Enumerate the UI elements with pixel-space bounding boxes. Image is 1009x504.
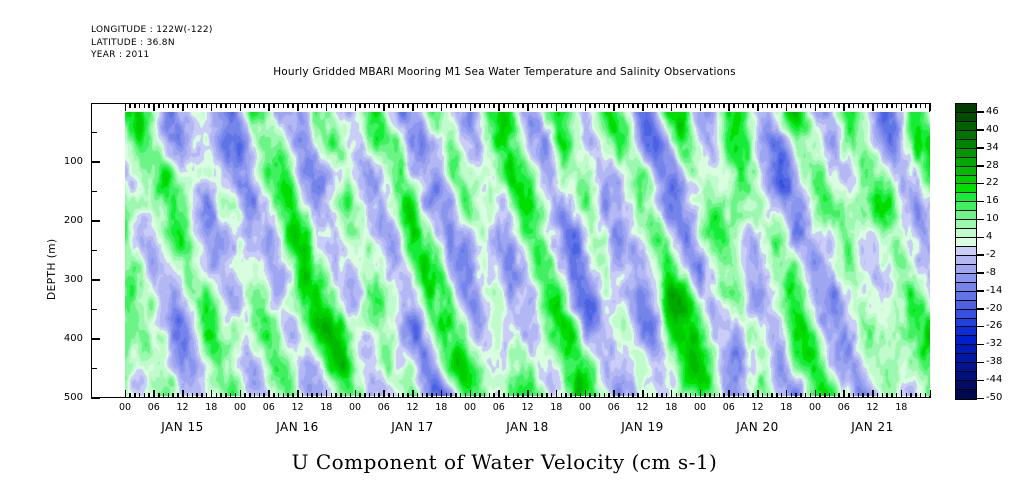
x-tick-bottom bbox=[695, 393, 697, 398]
x-tick-bottom bbox=[206, 393, 208, 398]
x-tick-top bbox=[450, 103, 452, 108]
x-tick-bottom bbox=[158, 393, 160, 398]
y-tick bbox=[91, 191, 97, 193]
x-tick-bottom bbox=[537, 393, 539, 398]
x-tick-top bbox=[719, 103, 721, 108]
colorbar-tick-label: -2 bbox=[986, 249, 996, 260]
x-tick-bottom bbox=[541, 393, 543, 398]
x-tick-top bbox=[757, 103, 759, 111]
x-tick-bottom bbox=[402, 393, 404, 398]
x-tick-bottom bbox=[930, 390, 932, 398]
x-tick-bottom bbox=[139, 393, 141, 398]
x-hour-label: 00 bbox=[458, 402, 482, 413]
colorbar-band bbox=[956, 310, 976, 319]
x-tick-bottom bbox=[436, 393, 438, 398]
x-tick-bottom bbox=[172, 393, 174, 398]
x-tick-bottom bbox=[834, 393, 836, 398]
x-tick-top bbox=[781, 103, 783, 108]
colorbar-band bbox=[956, 327, 976, 336]
colorbar-tick-label: 4 bbox=[986, 231, 992, 242]
x-hour-label: 12 bbox=[746, 402, 770, 413]
x-tick-bottom bbox=[493, 393, 495, 398]
colorbar-tick-label: -50 bbox=[986, 392, 1002, 403]
x-tick-bottom bbox=[690, 393, 692, 398]
velocity-heatmap bbox=[125, 112, 930, 396]
x-tick-bottom bbox=[733, 393, 735, 398]
x-tick-top bbox=[340, 103, 342, 108]
x-tick-bottom bbox=[240, 390, 242, 398]
x-tick-top bbox=[407, 103, 409, 108]
x-tick-bottom bbox=[369, 393, 371, 398]
x-tick-top bbox=[685, 103, 687, 108]
x-tick-bottom bbox=[872, 390, 874, 398]
x-tick-top bbox=[517, 103, 519, 108]
x-tick-top bbox=[493, 103, 495, 108]
metadata-block: LONGITUDE : 122W(-122) LATITUDE : 36.8N … bbox=[91, 24, 213, 62]
x-tick-bottom bbox=[910, 393, 912, 398]
x-hour-label: 06 bbox=[832, 402, 856, 413]
x-tick-top bbox=[728, 103, 730, 111]
x-tick-top bbox=[570, 103, 572, 108]
x-tick-top bbox=[546, 103, 548, 108]
x-tick-top bbox=[259, 103, 261, 108]
x-tick-bottom bbox=[359, 393, 361, 398]
x-tick-top bbox=[388, 103, 390, 108]
x-tick-top bbox=[604, 103, 606, 108]
x-tick-top bbox=[738, 103, 740, 108]
x-tick-bottom bbox=[503, 393, 505, 398]
x-tick-bottom bbox=[882, 393, 884, 398]
x-tick-bottom bbox=[498, 390, 500, 398]
x-tick-top bbox=[470, 103, 472, 111]
colorbar-tick-label: 28 bbox=[986, 160, 999, 171]
x-tick-bottom bbox=[287, 393, 289, 398]
x-tick-top bbox=[196, 103, 198, 108]
x-tick-bottom bbox=[168, 393, 170, 398]
x-hour-label: 12 bbox=[401, 402, 425, 413]
x-tick-bottom bbox=[211, 390, 213, 398]
x-tick-bottom bbox=[680, 393, 682, 398]
x-tick-bottom bbox=[321, 393, 323, 398]
x-tick-top bbox=[134, 103, 136, 108]
x-tick-top bbox=[541, 103, 543, 108]
x-tick-bottom bbox=[762, 393, 764, 398]
x-tick-bottom bbox=[182, 390, 184, 398]
colorbar-band bbox=[956, 131, 976, 140]
colorbar-band bbox=[956, 256, 976, 265]
x-tick-top bbox=[417, 103, 419, 108]
colorbar-tick-label: -14 bbox=[986, 285, 1002, 296]
x-tick-bottom bbox=[723, 393, 725, 398]
x-tick-bottom bbox=[460, 393, 462, 398]
x-tick-top bbox=[369, 103, 371, 108]
x-tick-bottom bbox=[364, 393, 366, 398]
y-tick bbox=[91, 161, 100, 163]
x-tick-bottom bbox=[575, 393, 577, 398]
x-tick-top bbox=[249, 103, 251, 108]
x-tick-top bbox=[168, 103, 170, 108]
x-tick-top bbox=[316, 103, 318, 108]
x-tick-bottom bbox=[613, 390, 615, 398]
x-tick-top bbox=[254, 103, 256, 108]
x-tick-top bbox=[359, 103, 361, 108]
x-tick-bottom bbox=[580, 393, 582, 398]
x-tick-top bbox=[882, 103, 884, 108]
x-tick-bottom bbox=[177, 393, 179, 398]
x-tick-bottom bbox=[632, 393, 634, 398]
x-tick-top bbox=[192, 103, 194, 108]
x-tick-top bbox=[513, 103, 515, 108]
x-tick-bottom bbox=[599, 393, 601, 398]
x-tick-bottom bbox=[771, 393, 773, 398]
x-tick-top bbox=[551, 103, 553, 108]
x-tick-bottom bbox=[628, 393, 630, 398]
x-tick-top bbox=[632, 103, 634, 108]
x-tick-top bbox=[752, 103, 754, 108]
x-tick-bottom bbox=[623, 393, 625, 398]
x-tick-top bbox=[355, 103, 357, 111]
latitude-label: LATITUDE : 36.8N bbox=[91, 37, 213, 50]
x-tick-bottom bbox=[316, 393, 318, 398]
colorbar-tick-label: -8 bbox=[986, 267, 996, 278]
x-tick-bottom bbox=[901, 390, 903, 398]
x-tick-bottom bbox=[383, 390, 385, 398]
x-tick-top bbox=[139, 103, 141, 108]
x-tick-bottom bbox=[446, 393, 448, 398]
x-tick-bottom bbox=[546, 393, 548, 398]
x-tick-top bbox=[695, 103, 697, 108]
y-tick bbox=[91, 132, 97, 134]
x-tick-bottom bbox=[244, 393, 246, 398]
x-tick-top bbox=[776, 103, 778, 108]
x-tick-top bbox=[522, 103, 524, 108]
x-tick-bottom bbox=[829, 393, 831, 398]
y-tick bbox=[91, 368, 97, 370]
colorbar-tick bbox=[977, 398, 984, 400]
x-tick-bottom bbox=[297, 390, 299, 398]
x-tick-top bbox=[393, 103, 395, 108]
x-tick-top bbox=[331, 103, 333, 108]
x-tick-bottom bbox=[201, 393, 203, 398]
x-tick-bottom bbox=[848, 393, 850, 398]
x-tick-top bbox=[829, 103, 831, 108]
x-hour-label: 06 bbox=[142, 402, 166, 413]
colorbar-tick bbox=[977, 237, 984, 239]
x-tick-bottom bbox=[254, 393, 256, 398]
x-tick-bottom bbox=[915, 393, 917, 398]
x-tick-top bbox=[637, 103, 639, 108]
x-tick-top bbox=[656, 103, 658, 108]
x-tick-top bbox=[211, 103, 213, 111]
x-tick-bottom bbox=[407, 393, 409, 398]
x-hour-label: 00 bbox=[113, 402, 137, 413]
x-tick-top bbox=[700, 103, 702, 111]
x-tick-top bbox=[273, 103, 275, 108]
colorbar-band bbox=[956, 238, 976, 247]
x-tick-top bbox=[652, 103, 654, 108]
x-tick-bottom bbox=[743, 393, 745, 398]
x-tick-top bbox=[767, 103, 769, 108]
x-tick-bottom bbox=[853, 393, 855, 398]
x-tick-bottom bbox=[273, 393, 275, 398]
x-tick-bottom bbox=[450, 393, 452, 398]
x-tick-top bbox=[474, 103, 476, 108]
y-tick bbox=[91, 309, 97, 311]
x-day-label: JAN 16 bbox=[248, 420, 348, 434]
x-tick-bottom bbox=[307, 393, 309, 398]
x-hour-label: 06 bbox=[602, 402, 626, 413]
y-tick bbox=[91, 220, 100, 222]
colorbar-tick bbox=[977, 344, 984, 346]
x-tick-top bbox=[853, 103, 855, 108]
x-tick-top bbox=[129, 103, 131, 108]
x-tick-top bbox=[747, 103, 749, 108]
x-tick-top bbox=[460, 103, 462, 108]
x-tick-top bbox=[671, 103, 673, 111]
x-tick-bottom bbox=[412, 390, 414, 398]
colorbar-tick bbox=[977, 308, 984, 310]
colorbar-tick bbox=[977, 219, 984, 221]
colorbar-tick bbox=[977, 165, 984, 167]
x-tick-top bbox=[714, 103, 716, 108]
x-tick-bottom bbox=[148, 393, 150, 398]
x-tick-top bbox=[268, 103, 270, 111]
x-tick-top bbox=[886, 103, 888, 108]
x-tick-bottom bbox=[292, 393, 294, 398]
x-tick-bottom bbox=[896, 393, 898, 398]
x-tick-top bbox=[287, 103, 289, 108]
x-tick-bottom bbox=[263, 393, 265, 398]
x-tick-top bbox=[585, 103, 587, 111]
x-tick-bottom bbox=[216, 393, 218, 398]
x-tick-bottom bbox=[594, 393, 596, 398]
x-day-label: JAN 19 bbox=[593, 420, 693, 434]
x-hour-label: 06 bbox=[257, 402, 281, 413]
x-tick-top bbox=[508, 103, 510, 108]
x-tick-bottom bbox=[192, 393, 194, 398]
x-tick-bottom bbox=[589, 393, 591, 398]
x-tick-bottom bbox=[791, 393, 793, 398]
x-tick-top bbox=[561, 103, 563, 108]
x-hour-label: 18 bbox=[314, 402, 338, 413]
colorbar-tick bbox=[977, 201, 984, 203]
x-hour-label: 18 bbox=[659, 402, 683, 413]
x-tick-top bbox=[642, 103, 644, 111]
colorbar bbox=[955, 103, 977, 400]
colorbar-tick-label: -26 bbox=[986, 320, 1002, 331]
x-tick-top bbox=[187, 103, 189, 108]
x-tick-top bbox=[465, 103, 467, 108]
longitude-label: LONGITUDE : 122W(-122) bbox=[91, 24, 213, 37]
x-tick-top bbox=[537, 103, 539, 108]
colorbar-tick-label: 40 bbox=[986, 124, 999, 135]
x-tick-top bbox=[862, 103, 864, 108]
colorbar-band bbox=[956, 176, 976, 185]
x-tick-top bbox=[704, 103, 706, 108]
x-tick-top bbox=[441, 103, 443, 111]
x-tick-bottom bbox=[125, 390, 127, 398]
x-tick-bottom bbox=[527, 390, 529, 398]
x-tick-bottom bbox=[800, 393, 802, 398]
colorbar-tick-label: -32 bbox=[986, 338, 1002, 349]
y-tick bbox=[91, 397, 100, 399]
colorbar-tick-label: -44 bbox=[986, 374, 1002, 385]
x-tick-top bbox=[235, 103, 237, 108]
x-tick-bottom bbox=[656, 393, 658, 398]
x-tick-top bbox=[422, 103, 424, 108]
x-tick-bottom bbox=[378, 393, 380, 398]
x-tick-top bbox=[690, 103, 692, 108]
colorbar-tick-label: 22 bbox=[986, 177, 999, 188]
x-tick-bottom bbox=[153, 390, 155, 398]
x-tick-top bbox=[867, 103, 869, 108]
x-tick-top bbox=[771, 103, 773, 108]
x-tick-top bbox=[402, 103, 404, 108]
x-tick-bottom bbox=[637, 393, 639, 398]
colorbar-tick bbox=[977, 111, 984, 113]
x-tick-top bbox=[206, 103, 208, 108]
x-tick-top bbox=[163, 103, 165, 108]
x-tick-bottom bbox=[326, 390, 328, 398]
x-tick-top bbox=[527, 103, 529, 111]
x-tick-top bbox=[877, 103, 879, 108]
x-tick-top bbox=[925, 103, 927, 108]
x-hour-label: 18 bbox=[774, 402, 798, 413]
x-tick-bottom bbox=[465, 393, 467, 398]
x-tick-top bbox=[743, 103, 745, 108]
x-tick-top bbox=[455, 103, 457, 108]
x-tick-bottom bbox=[474, 393, 476, 398]
x-tick-bottom bbox=[249, 393, 251, 398]
x-tick-top bbox=[144, 103, 146, 108]
x-tick-bottom bbox=[700, 390, 702, 398]
x-tick-top bbox=[398, 103, 400, 108]
x-tick-top bbox=[891, 103, 893, 108]
x-tick-bottom bbox=[666, 393, 668, 398]
x-tick-top bbox=[148, 103, 150, 108]
x-tick-bottom bbox=[704, 393, 706, 398]
x-tick-top bbox=[503, 103, 505, 108]
x-tick-bottom bbox=[676, 393, 678, 398]
colorbar-band bbox=[956, 202, 976, 211]
x-tick-top bbox=[666, 103, 668, 108]
x-tick-bottom bbox=[220, 393, 222, 398]
x-hour-label: 12 bbox=[631, 402, 655, 413]
x-tick-top bbox=[412, 103, 414, 111]
x-tick-top bbox=[307, 103, 309, 108]
x-tick-top bbox=[819, 103, 821, 108]
x-tick-bottom bbox=[283, 393, 285, 398]
x-tick-top bbox=[278, 103, 280, 108]
x-tick-bottom bbox=[886, 393, 888, 398]
colorbar-tick bbox=[977, 272, 984, 274]
colorbar-band bbox=[956, 372, 976, 381]
x-tick-bottom bbox=[604, 393, 606, 398]
x-tick-top bbox=[920, 103, 922, 108]
x-tick-top bbox=[594, 103, 596, 108]
y-tick bbox=[91, 250, 97, 252]
x-day-label: JAN 15 bbox=[133, 420, 233, 434]
x-tick-bottom bbox=[556, 390, 558, 398]
colorbar-tick bbox=[977, 290, 984, 292]
y-tick-label: 400 bbox=[43, 333, 83, 344]
colorbar-band bbox=[956, 345, 976, 354]
x-tick-top bbox=[930, 103, 932, 111]
x-tick-bottom bbox=[671, 390, 673, 398]
y-tick-label: 100 bbox=[43, 156, 83, 167]
x-tick-top bbox=[915, 103, 917, 108]
colorbar-band bbox=[956, 211, 976, 220]
x-tick-bottom bbox=[647, 393, 649, 398]
colorbar-band bbox=[956, 354, 976, 363]
x-tick-bottom bbox=[565, 393, 567, 398]
colorbar-band bbox=[956, 247, 976, 256]
x-tick-top bbox=[263, 103, 265, 108]
x-hour-label: 12 bbox=[171, 402, 195, 413]
x-tick-bottom bbox=[129, 393, 131, 398]
x-tick-top bbox=[896, 103, 898, 108]
x-tick-top bbox=[723, 103, 725, 108]
x-hour-label: 06 bbox=[372, 402, 396, 413]
x-tick-bottom bbox=[374, 393, 376, 398]
colorbar-band bbox=[956, 319, 976, 328]
colorbar-band bbox=[956, 292, 976, 301]
x-tick-bottom bbox=[355, 390, 357, 398]
x-hour-label: 00 bbox=[343, 402, 367, 413]
colorbar-tick-label: 46 bbox=[986, 106, 999, 117]
x-tick-bottom bbox=[661, 393, 663, 398]
colorbar-band bbox=[956, 104, 976, 113]
x-tick-bottom bbox=[618, 393, 620, 398]
x-tick-top bbox=[834, 103, 836, 108]
colorbar-band bbox=[956, 149, 976, 158]
x-tick-bottom bbox=[652, 393, 654, 398]
x-tick-top bbox=[498, 103, 500, 111]
x-hour-label: 12 bbox=[516, 402, 540, 413]
x-tick-bottom bbox=[561, 393, 563, 398]
x-tick-bottom bbox=[331, 393, 333, 398]
x-tick-top bbox=[326, 103, 328, 111]
x-tick-top bbox=[676, 103, 678, 108]
x-day-label: JAN 18 bbox=[478, 420, 578, 434]
x-tick-top bbox=[589, 103, 591, 108]
x-tick-bottom bbox=[925, 393, 927, 398]
x-tick-bottom bbox=[235, 393, 237, 398]
colorbar-band bbox=[956, 390, 976, 399]
x-tick-top bbox=[838, 103, 840, 108]
x-tick-bottom bbox=[417, 393, 419, 398]
x-tick-bottom bbox=[335, 393, 337, 398]
y-tick bbox=[91, 338, 100, 340]
x-tick-bottom bbox=[920, 393, 922, 398]
x-tick-bottom bbox=[858, 393, 860, 398]
x-tick-top bbox=[479, 103, 481, 108]
x-day-label: JAN 21 bbox=[823, 420, 923, 434]
x-tick-bottom bbox=[340, 393, 342, 398]
x-tick-bottom bbox=[426, 393, 428, 398]
colorbar-band bbox=[956, 113, 976, 122]
x-hour-label: 18 bbox=[429, 402, 453, 413]
colorbar-tick-label: -38 bbox=[986, 356, 1002, 367]
x-tick-bottom bbox=[642, 390, 644, 398]
x-hour-label: 06 bbox=[717, 402, 741, 413]
x-tick-bottom bbox=[757, 390, 759, 398]
x-tick-bottom bbox=[767, 393, 769, 398]
x-tick-top bbox=[762, 103, 764, 108]
x-hour-label: 18 bbox=[199, 402, 223, 413]
x-tick-top bbox=[532, 103, 534, 108]
x-tick-top bbox=[800, 103, 802, 108]
